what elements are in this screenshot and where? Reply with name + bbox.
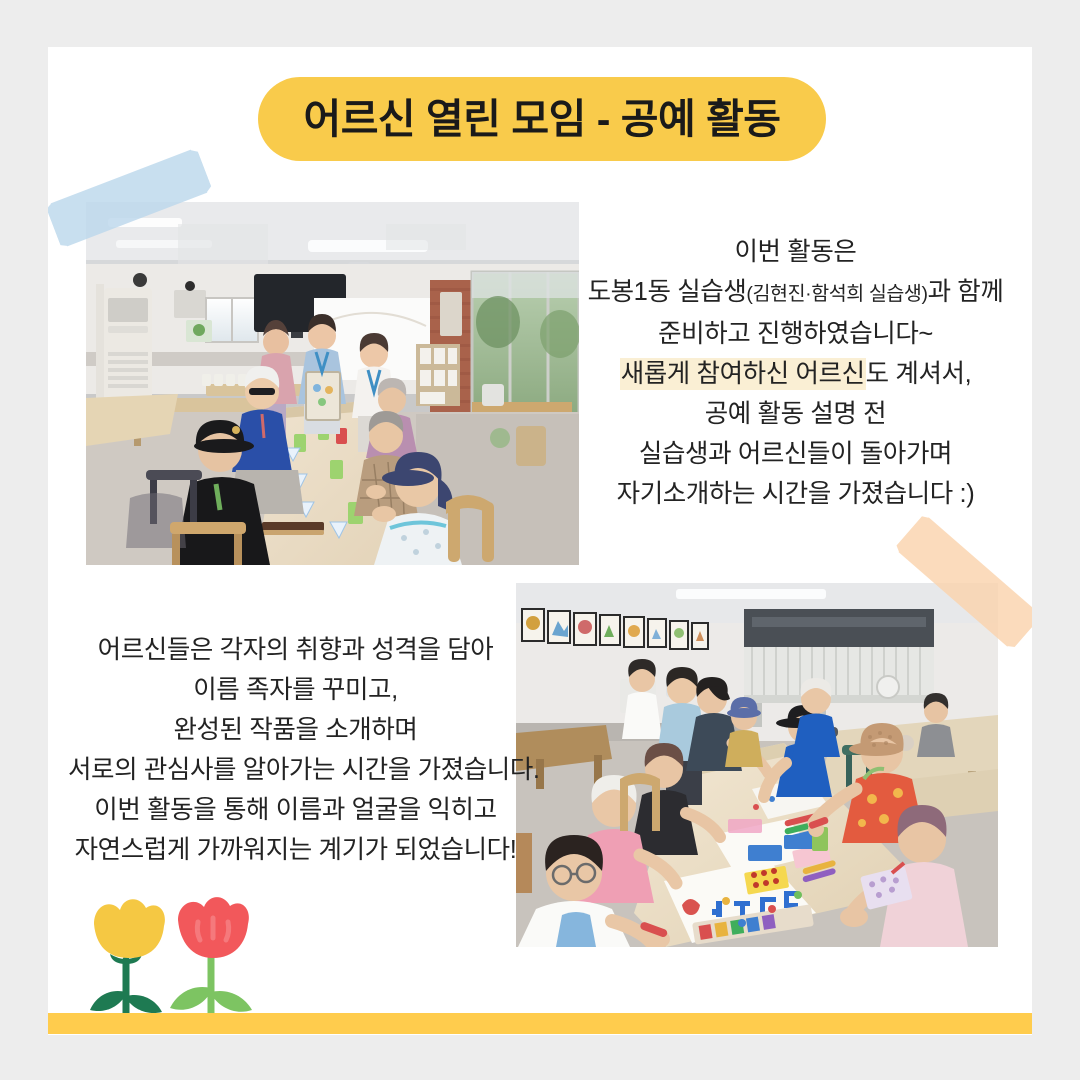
summary-line-1: 어르신들은 각자의 취향과 성격을 담아: [68, 630, 523, 670]
highlighted-phrase: 새롭게 참여하신 어르신: [620, 358, 866, 390]
yellow-tulip-icon: [90, 899, 165, 1014]
intro-line-3: 준비하고 진행하였습니다~: [568, 314, 1023, 354]
summary-line-3: 완성된 작품을 소개하며: [68, 710, 523, 750]
summary-line-5: 이번 활동을 통해 이름과 얼굴을 익히고: [68, 790, 523, 830]
intro-line-1: 이번 활동은: [568, 232, 1023, 272]
intro-line-5: 공예 활동 설명 전: [568, 394, 1023, 434]
tulip-decoration: [70, 892, 270, 1017]
intern-names-note: (김현진·함석희 실습생): [746, 283, 927, 305]
page-title: 어르신 열린 모임 - 공예 활동: [303, 99, 780, 140]
summary-text-block: 어르신들은 각자의 취향과 성격을 담아 이름 족자를 꾸미고, 완성된 작품을…: [68, 630, 523, 870]
group-introduction-illustration: [86, 202, 579, 565]
poster-card: 어르신 열린 모임 - 공예 활동: [48, 47, 1032, 1035]
title-badge: 어르신 열린 모임 - 공예 활동: [258, 77, 826, 161]
poster-canvas: 어르신 열린 모임 - 공예 활동: [0, 0, 1080, 1080]
intro-line-6: 실습생과 어르신들이 돌아가며: [568, 434, 1023, 474]
summary-line-4: 서로의 관심사를 알아가는 시간을 가졌습니다.: [68, 750, 523, 790]
intro-text-block: 이번 활동은 도봉1동 실습생(김현진·함석희 실습생)과 함께 준비하고 진행…: [568, 232, 1023, 514]
intro-line-2-prefix: 도봉1동 실습생: [588, 278, 747, 306]
intro-line-2-suffix: 과 함께: [928, 278, 1004, 306]
craft-activity-illustration: [516, 583, 998, 947]
intro-line-7: 자기소개하는 시간을 가졌습니다 :): [568, 474, 1023, 514]
red-tulip-icon: [170, 897, 252, 1014]
group-introduction-photo: [86, 202, 579, 565]
intro-line-2: 도봉1동 실습생(김현진·함석희 실습생)과 함께: [568, 272, 1023, 314]
intro-line-4-rest: 도 계셔서,: [866, 360, 972, 388]
intro-line-4: 새롭게 참여하신 어르신도 계셔서,: [568, 354, 1023, 394]
summary-line-6: 자연스럽게 가까워지는 계기가 되었습니다!: [68, 830, 523, 870]
craft-activity-photo: [516, 583, 998, 947]
summary-line-2: 이름 족자를 꾸미고,: [68, 670, 523, 710]
footer-accent-bar: [48, 1013, 1032, 1034]
